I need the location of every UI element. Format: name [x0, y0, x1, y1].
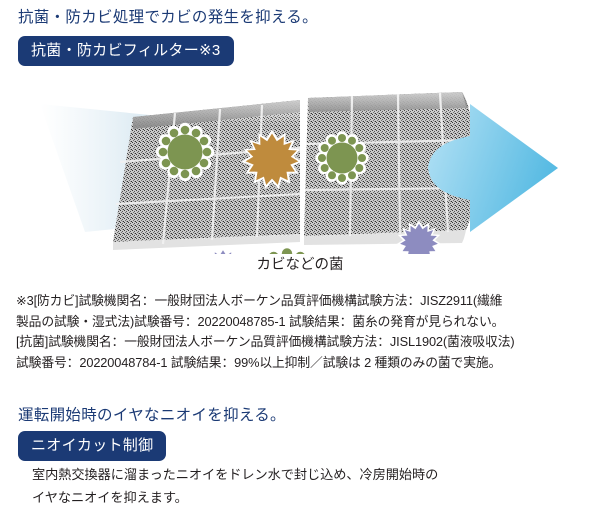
footnote-line: 試験番号：20220048784-1 試験結果：99%以上抑制／試験は 2 種類… — [16, 353, 588, 374]
odor-description: 室内熱交換器に溜まったニオイをドレン水で封じ込め、冷房開始時の イヤなニオイを抑… — [32, 464, 588, 509]
germ-green-2 — [252, 245, 323, 254]
odor-description-line: イヤなニオイを抑えます。 — [32, 487, 588, 510]
footnote-line: [抗菌]試験機関名：一般財団法人ボーケン品質評価機構試験方法：JISL1902(… — [16, 332, 588, 353]
filter-illustration — [0, 82, 600, 254]
heading-antibacterial: 抗菌・防カビ処理でカビの発生を抑える。 — [18, 10, 318, 26]
badge-antibacterial-filter: 抗菌・防カビフィルター※3 — [18, 36, 234, 66]
heading-odor-cut: 運転開始時のイヤなニオイを抑える。 — [18, 408, 286, 424]
germ-purple-1 — [201, 247, 245, 254]
footnote-line: 製品の試験・湿式法)試験番号：20220048785-1 試験結果：菌糸の発育が… — [16, 312, 588, 333]
badge-odor-cut-control: ニオイカット制御 — [18, 431, 166, 461]
footnote-line: ※3[防カビ]試験機関名：一般財団法人ボーケン品質評価機構試験方法：JISZ29… — [16, 291, 588, 312]
odor-description-line: 室内熱交換器に溜まったニオイをドレン水で封じ込め、冷房開始時の — [32, 464, 588, 487]
footnote-block: ※3[防カビ]試験機関名：一般財団法人ボーケン品質評価機構試験方法：JISZ29… — [16, 291, 588, 374]
illustration-caption: カビなどの菌 — [0, 258, 600, 273]
